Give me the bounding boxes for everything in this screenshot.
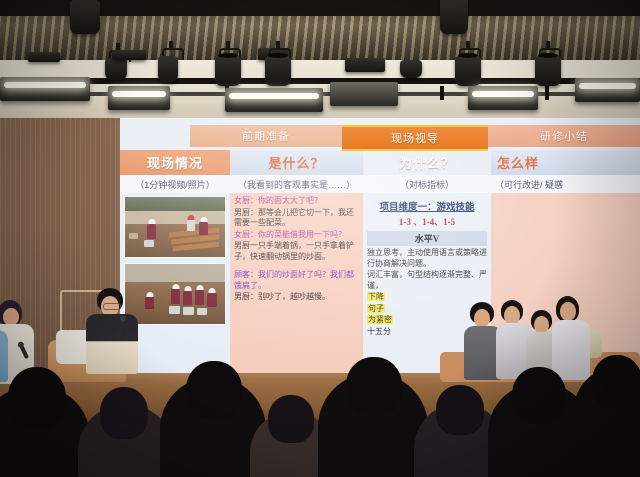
- dialogue-line: 顾客：我们的炒面好了吗？我们都饿扁了。: [234, 270, 359, 291]
- column-header: 怎么样: [491, 150, 640, 175]
- dialogue-spacer: [234, 263, 359, 269]
- slide-tab-preparation[interactable]: 前期准备: [190, 125, 342, 147]
- indicator-line: 词汇丰富，句型结构逐渐完整、严谨，: [367, 270, 487, 291]
- dialogue-line: 男厨：那等会儿把它切一下，我还需要一些配菜。: [234, 208, 359, 229]
- highlight-token: 为紧密: [367, 315, 393, 324]
- screenshot-root: 前期准备 现场视导 研修小结 现场情况 （1分钟视频/照片）: [0, 0, 640, 477]
- indicator-line: 独立思考，主动使用语言或策略进行协商解决问题。: [367, 248, 487, 269]
- column-subtitle: （可行改进/ 疑惑: [491, 175, 640, 193]
- dialogue-line: 男厨一只手端着锅，一只手拿着铲子，快速翻动锅里的炒面。: [234, 241, 359, 262]
- truss-post: [545, 86, 549, 100]
- dialogue-line: 女厨：你的面太大了吧？: [234, 196, 359, 207]
- audience-silhouette: [512, 367, 566, 423]
- eyeglasses-icon: [103, 303, 121, 310]
- slide-tab-onsite-guidance[interactable]: 现场视导: [342, 125, 488, 151]
- audience-silhouette: [436, 385, 484, 435]
- indicator-line-highlighted: 下降: [367, 292, 487, 303]
- strip-light: [468, 86, 538, 110]
- truss-post: [440, 86, 444, 100]
- highlight-token: 句子: [367, 304, 385, 313]
- indicator-line-highlighted: 为紧密: [367, 315, 487, 326]
- column-subtitle: （对标指标）: [363, 175, 491, 193]
- strip-light: [0, 77, 90, 101]
- audience-silhouette: [186, 361, 242, 419]
- column-subtitle: （我看到的客观事实是……）: [230, 175, 363, 193]
- dialogue-line: 男厨：别吵了，越吵越慢。: [234, 292, 359, 303]
- audience-silhouette: [268, 395, 314, 443]
- column-header: 为什么？: [363, 150, 491, 175]
- dialogue-line: 女厨：你的菜能借我用一下吗？: [234, 230, 359, 241]
- slide-tab-row: 前期准备 现场视导 研修小结: [190, 125, 640, 147]
- strip-light: [330, 82, 398, 106]
- slide-tab-summary[interactable]: 研修小结: [488, 125, 640, 147]
- dimension-title: 项目维度一：游戏技能: [367, 199, 487, 213]
- level-label: 水平V: [367, 231, 487, 246]
- column-subtitle: （1分钟视频/照片）: [120, 175, 230, 193]
- strip-light: [108, 86, 170, 110]
- indicator-codes: 1-3 、1-4、1-5: [367, 215, 487, 228]
- audience-silhouette: [100, 387, 148, 439]
- column-header: 是什么？: [230, 150, 363, 175]
- highlight-token: 下降: [367, 292, 385, 301]
- column-body: 女厨：你的面太大了吧？ 男厨：那等会儿把它切一下，我还需要一些配菜。 女厨：你的…: [230, 193, 363, 373]
- audience-silhouette: [592, 355, 640, 409]
- strip-light: [225, 88, 323, 112]
- indicator-line-highlighted: 句子: [367, 304, 487, 315]
- photo-children-planting-2: [124, 263, 226, 325]
- audience-silhouette: [8, 367, 66, 429]
- audience-silhouette: [346, 357, 402, 415]
- slide-column-what: 是什么？ （我看到的客观事实是……） 女厨：你的面太大了吧？ 男厨：那等会儿把它…: [230, 150, 363, 373]
- photo-children-planting-1: [124, 196, 226, 258]
- strip-light: [575, 78, 640, 102]
- column-header: 现场情况: [120, 150, 230, 175]
